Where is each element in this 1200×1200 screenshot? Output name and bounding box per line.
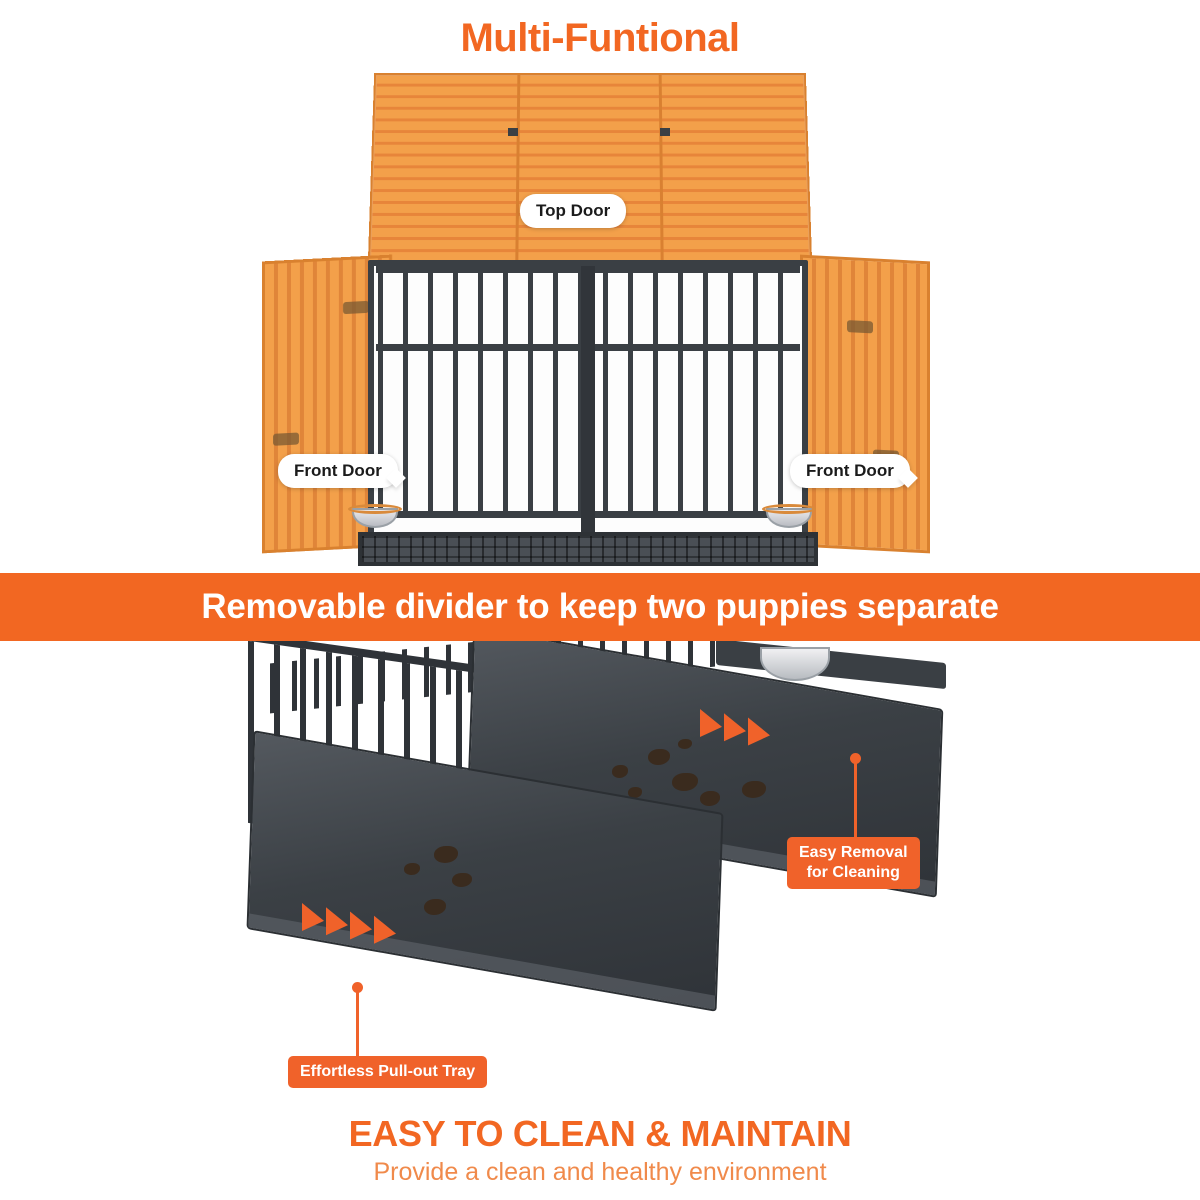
product-image-top: Top Door Front Door Front Door xyxy=(0,62,1200,572)
chevron-f3 xyxy=(350,911,372,943)
cage-floor-grate xyxy=(358,532,818,566)
page-title: Multi-Funtional xyxy=(0,16,1200,61)
feature-banner-text: Removable divider to keep two puppies se… xyxy=(201,587,998,627)
removable-divider xyxy=(581,266,595,544)
chevron-f4 xyxy=(374,916,396,948)
lid-hinge-left xyxy=(508,128,518,136)
front-door-right-panel xyxy=(800,255,930,554)
chevron-b3 xyxy=(748,717,770,749)
callout-front-door-left: Front Door xyxy=(278,454,398,488)
door-latch-right-top xyxy=(847,320,873,333)
lid-hinge-right xyxy=(660,128,670,136)
tag-pull-out-tray: Effortless Pull-out Tray xyxy=(288,1056,487,1088)
bottom-subheadline: Provide a clean and healthy environment xyxy=(0,1158,1200,1187)
callout-top-door: Top Door xyxy=(520,194,626,228)
chevron-f1 xyxy=(302,903,324,935)
product-image-bottom: Easy Removal for Cleaning Effortless Pul… xyxy=(0,641,1200,1100)
chevron-b2 xyxy=(724,713,746,745)
feature-banner: Removable divider to keep two puppies se… xyxy=(0,573,1200,641)
tag-easy-removal: Easy Removal for Cleaning xyxy=(787,837,920,889)
leader-line-easy-removal xyxy=(854,759,857,839)
bottom-headline: EASY TO CLEAN & MAINTAIN xyxy=(0,1113,1200,1155)
bowl-holder-right xyxy=(762,504,816,514)
chevron-b1 xyxy=(700,709,722,741)
cage-body xyxy=(368,260,808,550)
leader-line-pull-out-tray xyxy=(356,988,359,1059)
bowl-holder-left xyxy=(348,504,402,514)
chevron-f2 xyxy=(326,907,348,939)
door-latch-left-top xyxy=(343,301,369,314)
door-latch-left-bottom xyxy=(273,432,299,445)
callout-front-door-right: Front Door xyxy=(790,454,910,488)
